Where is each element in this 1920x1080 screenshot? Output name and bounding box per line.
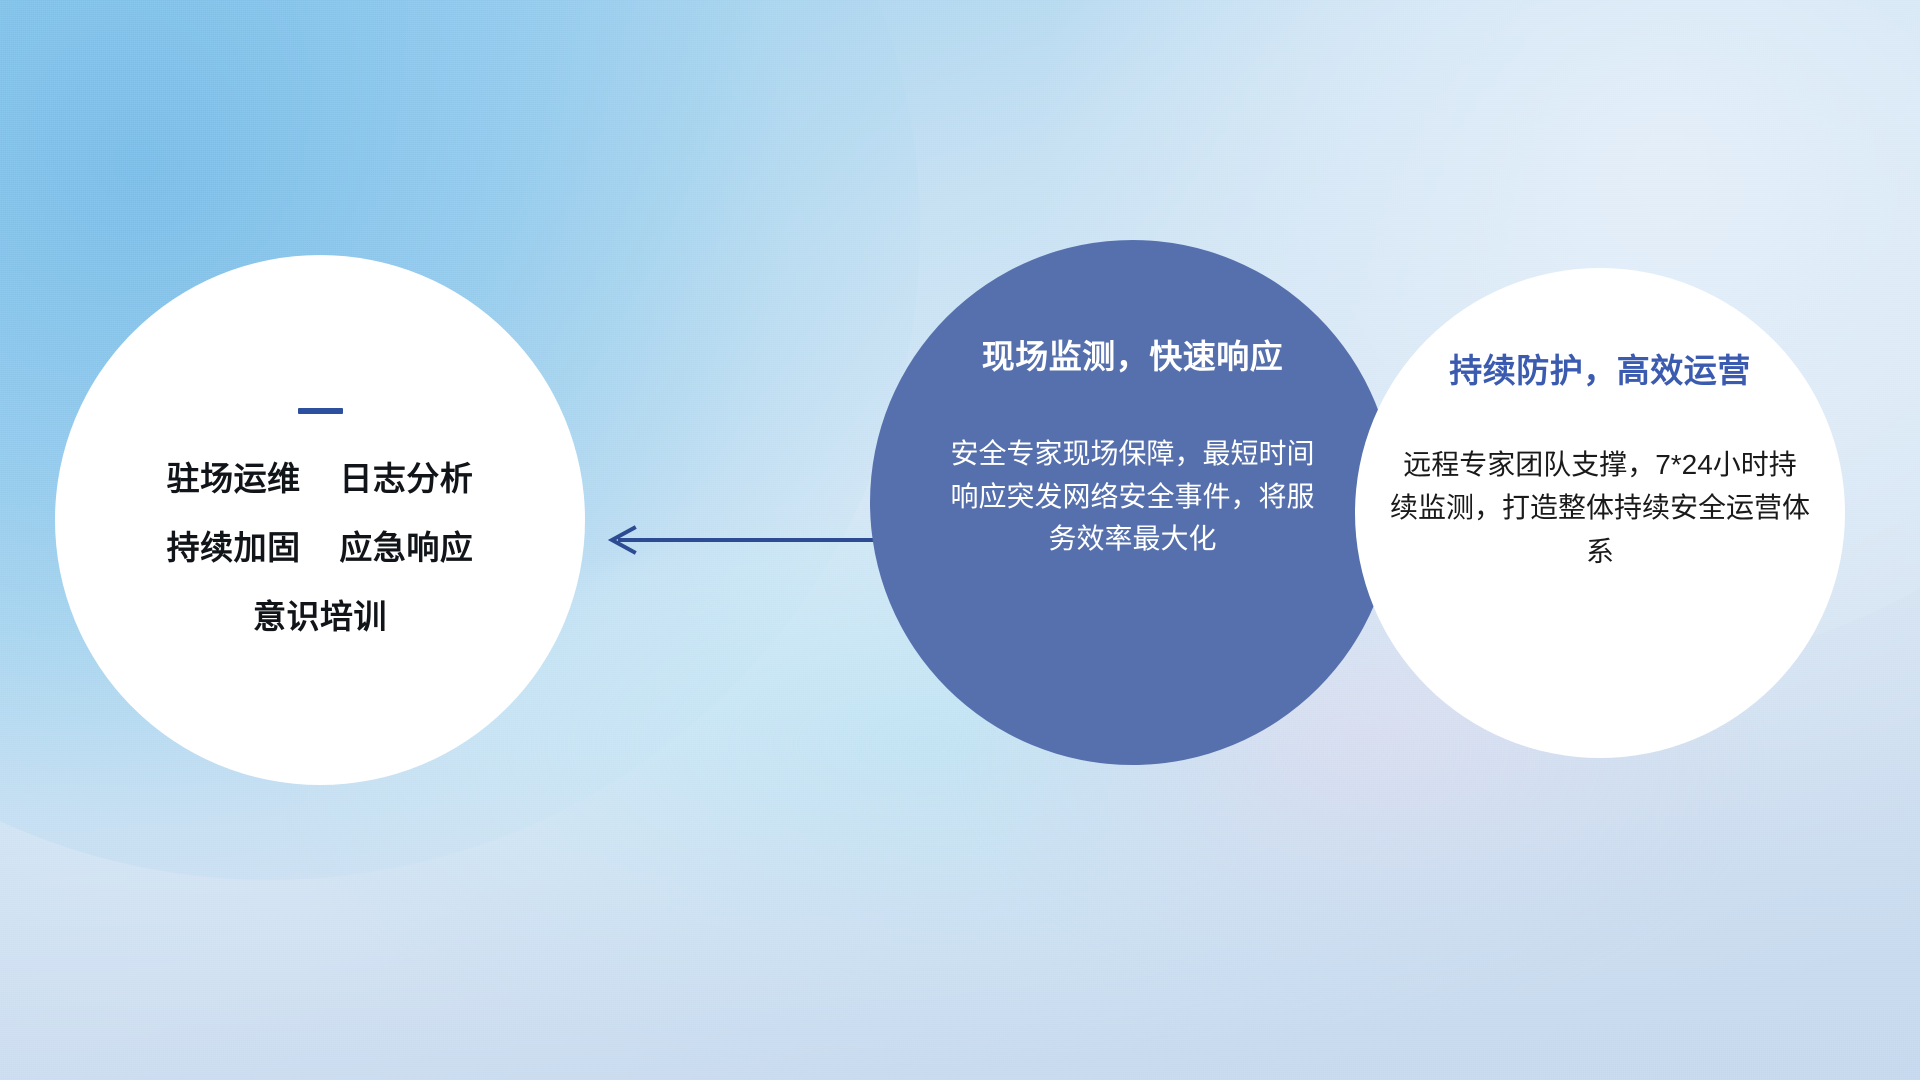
right-operations-circle: 持续防护，高效运营 远程专家团队支撑，7*24小时持续监测，打造整体持续安全运营…: [1355, 268, 1845, 758]
list-item: 意识培训: [253, 600, 387, 633]
right-circle-title: 持续防护，高效运营: [1449, 354, 1751, 387]
mid-circle-title: 现场监测，快速响应: [982, 340, 1284, 373]
list-item: 驻场运维 日志分析: [167, 462, 474, 495]
left-circle-service-list: 驻场运维 日志分析 持续加固 应急响应 意识培训: [167, 462, 474, 633]
divider-dash-icon: [298, 408, 343, 414]
arrow-left-icon: [600, 520, 890, 560]
list-item: 持续加固 应急响应: [167, 531, 474, 564]
right-circle-body: 远程专家团队支撑，7*24小时持续监测，打造整体持续安全运营体系: [1390, 443, 1810, 573]
mid-circle-body: 安全专家现场保障，最短时间响应突发网络安全事件，将服务效率最大化: [948, 433, 1318, 561]
slide-canvas: 驻场运维 日志分析 持续加固 应急响应 意识培训 现场监测，快速响应 安全专家现…: [0, 0, 1920, 1080]
left-service-circle: 驻场运维 日志分析 持续加固 应急响应 意识培训: [55, 255, 585, 785]
mid-onsite-circle: 现场监测，快速响应 安全专家现场保障，最短时间响应突发网络安全事件，将服务效率最…: [870, 240, 1395, 765]
